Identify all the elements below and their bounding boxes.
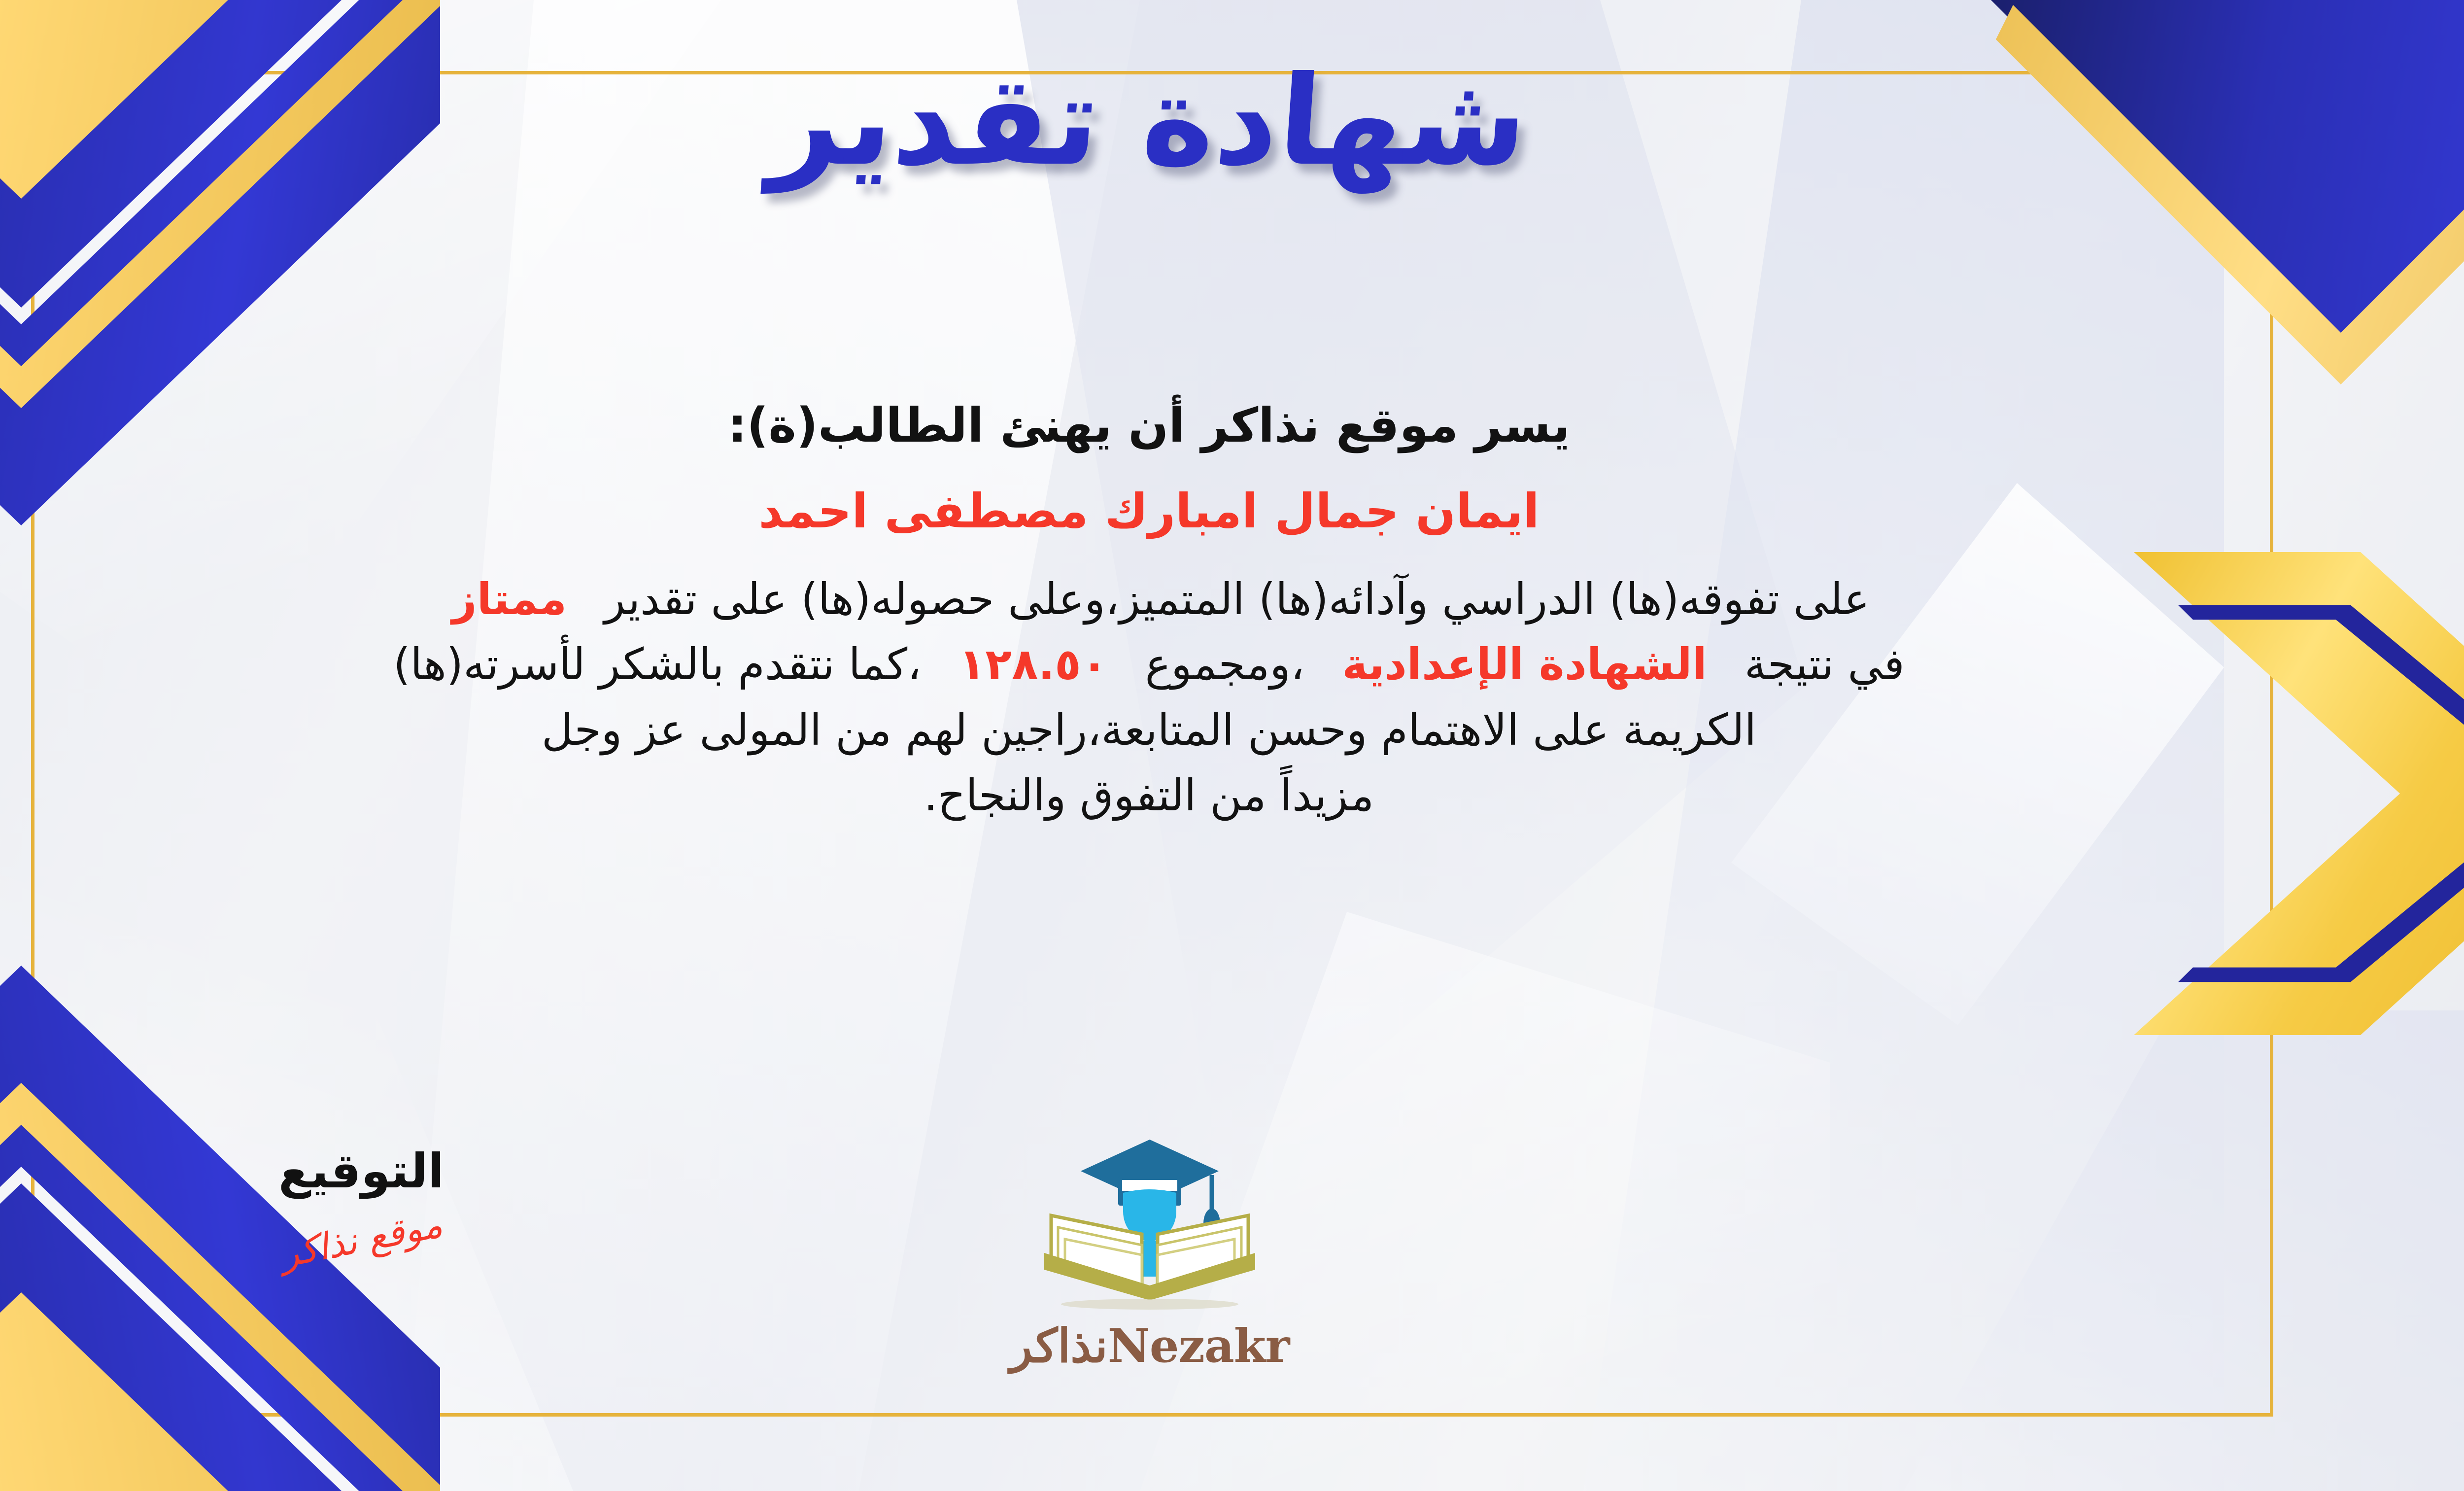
- citation-line-4: مزيداً من التفوق والنجاح.: [46, 765, 2252, 827]
- total-score: ١٢٨.٥٠: [935, 634, 1131, 695]
- citation-part-2: في نتيجة: [1745, 639, 1905, 690]
- certificate-title-wrap: شهادة تقدير: [0, 44, 2464, 199]
- greeting-line: يسر موقع نذاكر أن يهنئ الطالب(ة):: [46, 394, 2252, 457]
- signature-block: التوقيع موقع نذاكر: [208, 1144, 514, 1261]
- exam-name: الشهادة الإعدادية: [1318, 634, 1731, 695]
- grade-value: ممتاز: [428, 569, 590, 630]
- student-name: ايمان جمال امبارك مصطفى احمد: [46, 481, 2252, 542]
- citation-part-5: الكريمة على الاهتمام وحسن المتابعة،راجين…: [542, 704, 1756, 755]
- citation-paragraph: على تفوقه(ها) الدراسي وآدائه(ها) المتميز…: [46, 569, 2252, 827]
- brand-latin: Nezakr: [1108, 1319, 1290, 1373]
- certificate-body: يسر موقع نذاكر أن يهنئ الطالب(ة): ايمان …: [46, 394, 2252, 831]
- citation-part-6: مزيداً من التفوق والنجاح.: [924, 770, 1374, 821]
- citation-line-3: الكريمة على الاهتمام وحسن المتابعة،راجين…: [46, 699, 2252, 761]
- citation-part-1: على تفوقه(ها) الدراسي وآدائه(ها) المتميز…: [604, 574, 1870, 624]
- graduate-book-logo-icon: [1022, 1129, 1278, 1316]
- citation-part-3: ،ومجموع: [1145, 639, 1305, 690]
- signature-label: التوقيع: [208, 1144, 514, 1199]
- citation-line-2: في نتيجة الشهادة الإعدادية ،ومجموع ١٢٨.٥…: [46, 634, 2252, 695]
- certificate-title: شهادة تقدير: [765, 44, 1533, 199]
- citation-line-1: على تفوقه(ها) الدراسي وآدائه(ها) المتميز…: [46, 569, 2252, 630]
- brand-wordmark: Nezakrنذاكر: [982, 1319, 1317, 1373]
- brand-arabic: نذاكر: [1010, 1319, 1108, 1373]
- brand-logo: Nezakrنذاكر: [982, 1129, 1317, 1373]
- citation-part-4: ،كما نتقدم بالشكر لأسرته(ها): [393, 639, 921, 690]
- certificate-canvas: شهادة تقدير يسر موقع نذاكر أن يهنئ الطال…: [0, 0, 2464, 1491]
